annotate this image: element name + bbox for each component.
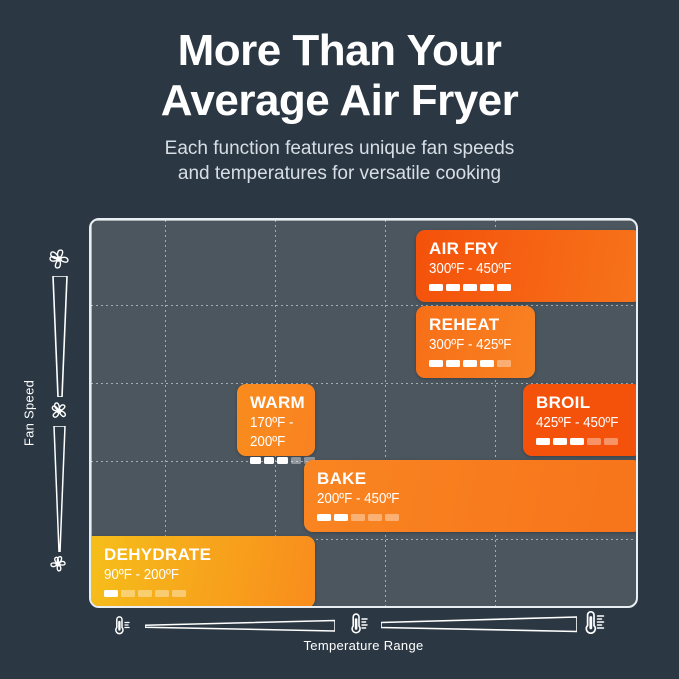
x-axis-label: Temperature Range	[89, 638, 638, 653]
bar-reheat[interactable]: REHEAT 300ºF - 425ºF	[416, 306, 535, 378]
subtitle-line-1: Each function features unique fan speeds	[0, 136, 679, 161]
temperature-wedge-right	[381, 616, 577, 639]
fan-speed-meter	[429, 360, 535, 367]
bar-temp-range: 425ºF - 450ºF	[536, 414, 634, 433]
bar-air-fry[interactable]: AIR FRY 300ºF - 450ºF	[416, 230, 638, 302]
fan-speed-meter	[429, 284, 638, 291]
bar-temp-range: 90ºF - 200ºF	[104, 566, 298, 585]
fan-speed-meter	[317, 514, 638, 521]
bar-temp-range: 300ºF - 450ºF	[429, 260, 625, 279]
bar-warm[interactable]: WARM 170ºF - 200ºF	[237, 384, 315, 456]
bar-label: WARM	[250, 393, 315, 413]
fan-icon-small	[48, 554, 68, 579]
subtitle-line-2: and temperatures for versatile cooking	[0, 161, 679, 186]
y-axis-label: Fan Speed	[22, 353, 37, 473]
bar-label: DEHYDRATE	[104, 545, 315, 565]
bar-label: AIR FRY	[429, 239, 638, 259]
x-axis-temperature-range: Temperature Range	[89, 608, 638, 664]
fan-speed-wedge-upper	[50, 276, 70, 402]
plot-area: AIR FRY 300ºF - 450ºF REHEAT 300ºF - 425…	[89, 218, 638, 608]
title-line-2: Average Air Fryer	[0, 76, 679, 126]
bar-label: BROIL	[536, 393, 638, 413]
fan-icon-large	[46, 246, 72, 277]
title-line-1: More Than Your	[0, 26, 679, 76]
bar-bake[interactable]: BAKE 200ºF - 450ºF	[304, 460, 638, 532]
chart: Fan Speed AIR FRY 300ºF - 450ºF	[0, 212, 679, 679]
page-subtitle: Each function features unique fan speeds…	[0, 126, 679, 186]
bar-dehydrate[interactable]: DEHYDRATE 90ºF - 200ºF	[89, 536, 315, 608]
y-axis-fan-speed: Fan Speed	[0, 218, 89, 608]
bar-label: BAKE	[317, 469, 638, 489]
bar-temp-range: 300ºF - 425ºF	[429, 336, 527, 355]
temperature-wedge-left	[145, 619, 335, 638]
fan-speed-wedge-lower	[52, 426, 68, 557]
fan-icon-medium	[48, 400, 70, 427]
header: More Than Your Average Air Fryer Each fu…	[0, 0, 679, 186]
page-title: More Than Your Average Air Fryer	[0, 0, 679, 126]
fan-speed-meter	[536, 438, 638, 445]
bar-broil[interactable]: BROIL 425ºF - 450ºF	[523, 384, 638, 456]
bar-temp-range: 200ºF - 450ºF	[317, 490, 616, 509]
bar-label: REHEAT	[429, 315, 535, 335]
fan-speed-meter	[104, 590, 315, 597]
bar-temp-range: 170ºF - 200ºF	[250, 414, 310, 452]
infographic-page: More Than Your Average Air Fryer Each fu…	[0, 0, 679, 679]
